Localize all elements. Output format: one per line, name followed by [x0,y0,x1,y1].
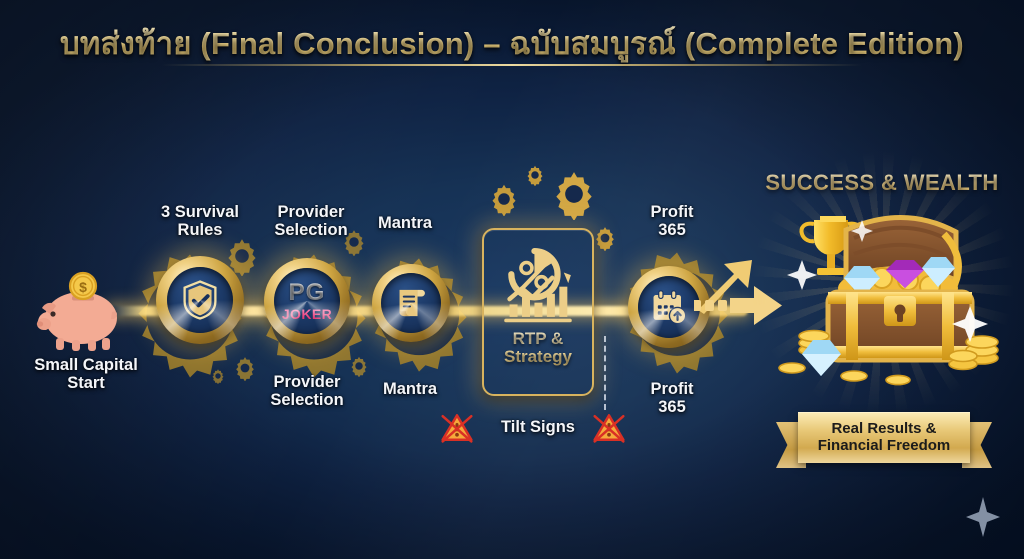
page-title: บทส่งท้าย (Final Conclusion) – ฉบับสมบูร… [60,18,964,68]
infographic-canvas: บทส่งท้าย (Final Conclusion) – ฉบับสมบูร… [0,0,1024,559]
step-label-mantra-bottom: Mantra [350,380,470,398]
dashed-divider [604,336,606,410]
ribbon-text: Real Results & Financial Freedom [818,421,951,455]
scroll-document-icon [394,285,428,321]
joker-logo-text: JOKER [282,307,332,321]
shield-check-icon [181,280,219,320]
tilt-signs-label: Tilt Signs [478,418,598,436]
step-label-profit365-top: Profit 365 [612,203,732,240]
percent-chart-growth-icon [497,244,579,324]
step-node-survival-rules[interactable] [156,256,244,344]
step-node-provider-selection[interactable]: PG JOKER [264,258,350,344]
pg-logo-text: PG [289,281,326,305]
treasure-chest-icon [758,168,1008,388]
calendar-up-arrow-icon [650,289,688,325]
page-title-container: บทส่งท้าย (Final Conclusion) – ฉบับสมบูร… [0,18,1024,68]
piggy-bank-icon: $ [26,268,138,354]
gear-icon [524,164,546,186]
step-node-mantra[interactable] [372,264,450,342]
rtp-card-title: RTP & Strategy [504,330,572,366]
gear-icon [548,168,600,220]
outcome-ribbon: Real Results & Financial Freedom [776,412,992,468]
corner-sparkle-icon [966,497,1000,537]
ribbon-body: Real Results & Financial Freedom [798,412,970,463]
step-card-rtp-strategy[interactable]: RTP & Strategy [482,228,594,396]
sparkle-icon [787,260,817,290]
svg-text:$: $ [79,279,87,295]
step-label-mantra-top: Mantra [345,214,465,232]
warning-triangle-crossed-icon [440,412,474,444]
step-label-profit365-bottom: Profit 365 [612,380,732,417]
title-divider [162,64,862,66]
gear-icon [487,182,521,216]
start-label: Small Capital Start [6,356,166,393]
